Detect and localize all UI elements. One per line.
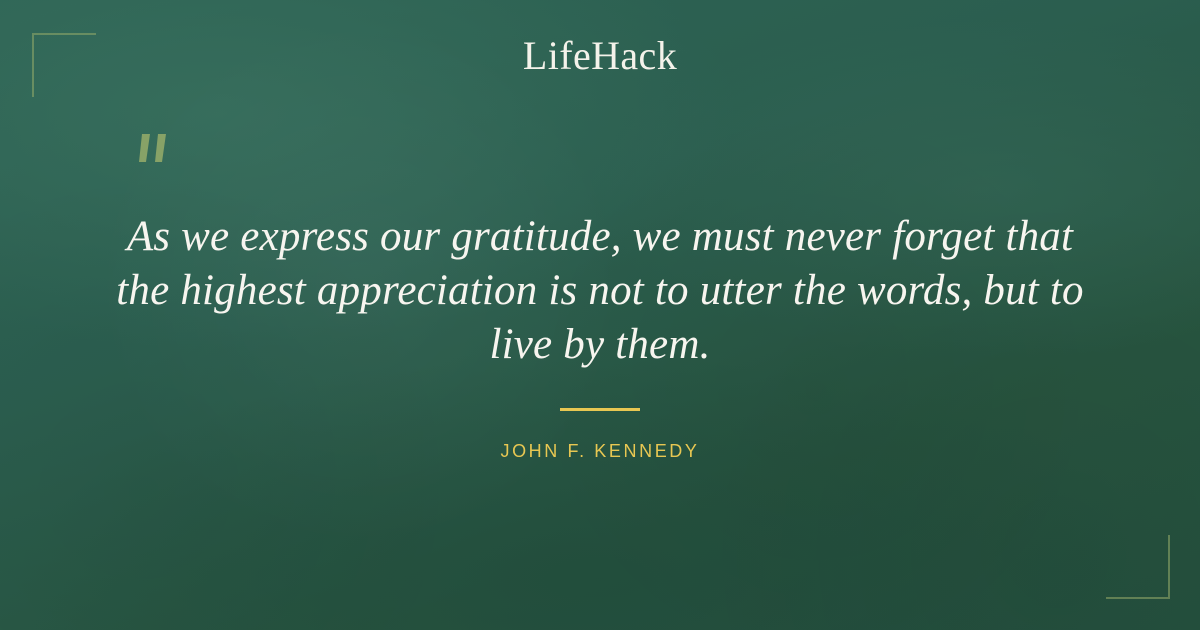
double-quote-icon: [128, 128, 192, 192]
gold-divider: [560, 408, 640, 411]
quote-author: JOHN F. KENNEDY: [0, 440, 1200, 462]
corner-bracket-bottom-right-icon: [1106, 535, 1170, 599]
quote-card: LifeHack As we express our gratitude, we…: [0, 0, 1200, 630]
brand-logo: LifeHack: [0, 36, 1200, 76]
quote-block: As we express our gratitude, we must nev…: [100, 210, 1100, 372]
quote-text: As we express our gratitude, we must nev…: [100, 210, 1100, 372]
